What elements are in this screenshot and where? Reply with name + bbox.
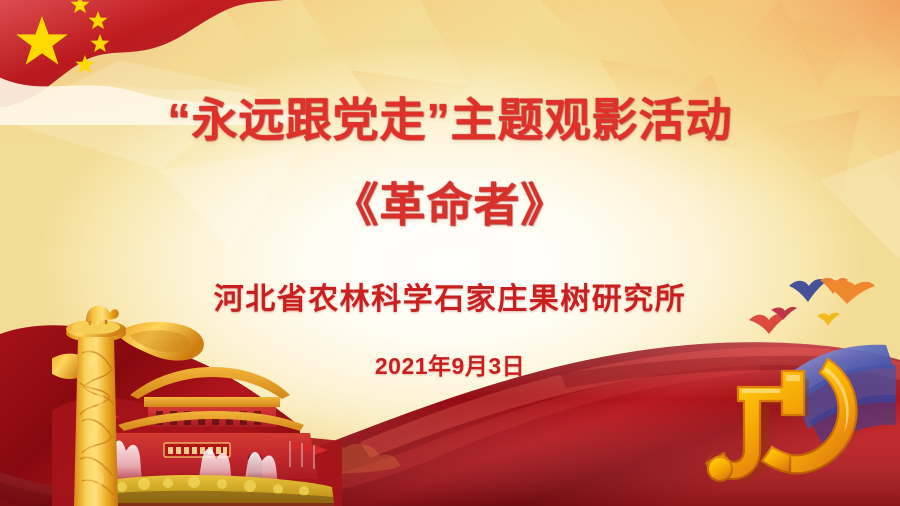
organization-name: 河北省农林科学石家庄果树研究所 [0, 285, 900, 315]
tiananmen-monument-graphic [52, 291, 342, 506]
event-date: 2021年9月3日 [0, 355, 900, 378]
page-title: “永远跟党走”主题观影活动 [0, 97, 900, 143]
poster-canvas: “永远跟党走”主题观影活动 《革命者》 河北省农林科学石家庄果树研究所 2021… [0, 0, 900, 506]
film-title: 《革命者》 [0, 182, 900, 228]
